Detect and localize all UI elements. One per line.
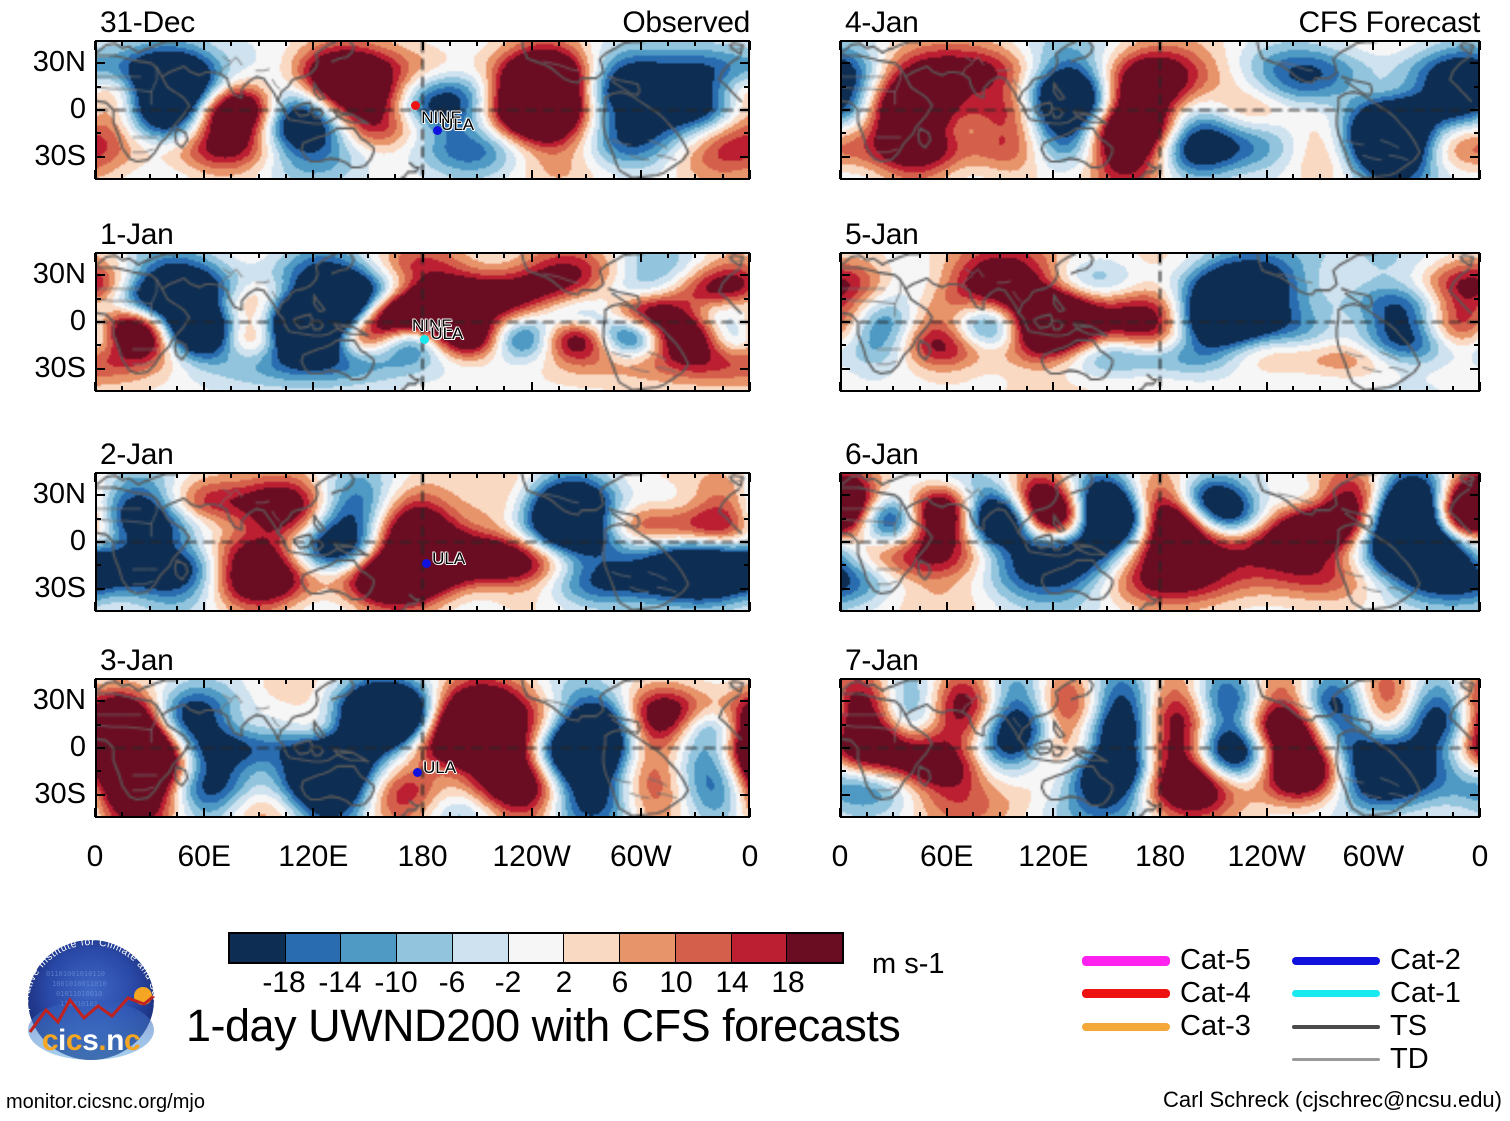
axis-tick <box>1319 174 1321 179</box>
axis-tick <box>1212 679 1214 684</box>
axis-tick <box>449 473 451 478</box>
axis-tick <box>613 386 615 391</box>
axis-tick <box>476 679 478 684</box>
axis-tick <box>176 606 178 611</box>
axis-tick <box>94 602 96 611</box>
x-axis-label-right-2: 120E <box>1018 842 1088 872</box>
axis-tick <box>1052 170 1054 179</box>
axis-tick <box>740 541 749 543</box>
axis-tick <box>394 174 396 179</box>
axis-tick <box>1372 170 1374 179</box>
y-axis-label-30s-row2: 30S <box>0 574 86 603</box>
axis-tick <box>367 606 369 611</box>
storm-label-ula-obs-2-jan: ULA <box>432 550 465 567</box>
axis-tick <box>1159 253 1161 262</box>
legend-row-cat-3: Cat-3 <box>1082 1010 1251 1043</box>
axis-tick <box>1346 253 1348 258</box>
axis-tick <box>258 174 260 179</box>
axis-tick <box>96 132 101 134</box>
axis-tick <box>640 382 642 391</box>
axis-tick <box>1106 679 1108 684</box>
colorbar-swatch-0 <box>230 934 286 962</box>
axis-tick <box>919 41 921 46</box>
axis-tick <box>640 808 642 817</box>
axis-tick <box>149 679 151 684</box>
axis-tick <box>1186 174 1188 179</box>
legend-line-cat-4 <box>1082 989 1170 998</box>
y-axis-label-30n-row2: 30N <box>0 480 86 509</box>
axis-tick <box>1426 174 1428 179</box>
axis-tick <box>740 494 749 496</box>
legend-label-cat-2: Cat-2 <box>1390 946 1461 975</box>
axis-tick <box>176 174 178 179</box>
axis-tick <box>531 602 533 611</box>
axis-tick <box>1106 386 1108 391</box>
axis-tick <box>1479 170 1481 179</box>
axis-tick <box>96 518 101 520</box>
panel-title-obs-2-jan: 2-Jan <box>100 440 174 470</box>
axis-tick <box>839 808 841 817</box>
y-axis-label-0-row0: 0 <box>0 95 86 124</box>
y-axis-label-30s-row3: 30S <box>0 780 86 809</box>
axis-tick <box>558 812 560 817</box>
axis-tick <box>96 109 105 111</box>
storm-marker-ula-obs-1-jan <box>420 335 429 344</box>
axis-tick <box>285 679 287 684</box>
axis-tick <box>1159 602 1161 611</box>
axis-tick <box>613 606 615 611</box>
axis-tick <box>1239 812 1241 817</box>
axis-tick <box>640 679 642 688</box>
axis-tick <box>230 812 232 817</box>
axis-tick <box>340 253 342 258</box>
axis-tick <box>96 700 105 702</box>
axis-tick <box>1479 473 1481 482</box>
axis-tick <box>1346 679 1348 684</box>
axis-tick <box>1079 386 1081 391</box>
axis-tick <box>1106 253 1108 258</box>
axis-tick <box>740 588 749 590</box>
axis-tick <box>1479 679 1481 688</box>
axis-tick <box>312 808 314 817</box>
colorbar-tick-18: 18 <box>771 966 804 1000</box>
axis-tick <box>866 812 868 817</box>
axis-tick <box>1186 606 1188 611</box>
axis-tick <box>749 41 751 50</box>
axis-tick <box>1079 679 1081 684</box>
x-axis-label-right-6: 0 <box>1472 842 1489 872</box>
axis-tick <box>531 170 533 179</box>
axis-tick <box>1292 679 1294 684</box>
axis-tick <box>1239 386 1241 391</box>
axis-tick <box>1239 473 1241 478</box>
axis-tick <box>96 321 105 323</box>
axis-tick <box>585 606 587 611</box>
axis-tick <box>1470 321 1479 323</box>
colorbar-units-label: m s-1 <box>872 950 945 979</box>
axis-tick <box>96 564 101 566</box>
axis-tick <box>722 41 724 46</box>
legend-line-cat-1 <box>1292 990 1380 997</box>
axis-tick <box>972 812 974 817</box>
map-field-obs-3-jan <box>97 680 748 816</box>
x-axis-label-right-3: 180 <box>1135 842 1185 872</box>
axis-tick <box>1319 473 1321 478</box>
axis-tick <box>1346 386 1348 391</box>
axis-tick <box>585 253 587 258</box>
axis-tick <box>841 109 850 111</box>
axis-tick <box>667 41 669 46</box>
axis-tick <box>667 606 669 611</box>
axis-tick <box>1132 473 1134 478</box>
axis-tick <box>892 386 894 391</box>
map-panel-obs-2-jan <box>95 472 750 612</box>
axis-tick <box>972 174 974 179</box>
column-header-observed: Observed <box>95 8 750 38</box>
legend-line-cat-2 <box>1292 957 1380 965</box>
axis-tick <box>999 174 1001 179</box>
axis-tick <box>866 606 868 611</box>
legend-row-cat-1: Cat-1 <box>1292 977 1461 1010</box>
axis-tick <box>694 253 696 258</box>
axis-tick <box>722 812 724 817</box>
colorbar-swatch-5 <box>509 934 565 962</box>
axis-tick <box>449 253 451 258</box>
map-field-cfs-5-jan <box>842 254 1478 390</box>
colorbar-tick-6: 6 <box>612 966 629 1000</box>
colorbar-swatch-10 <box>787 934 842 962</box>
map-panel-cfs-7-jan <box>840 678 1480 818</box>
axis-tick <box>694 812 696 817</box>
map-field-cfs-7-jan <box>842 680 1478 816</box>
axis-tick <box>866 386 868 391</box>
axis-tick <box>1452 812 1454 817</box>
axis-tick <box>694 606 696 611</box>
axis-tick <box>1266 808 1268 817</box>
axis-tick <box>744 518 749 520</box>
map-field-cfs-4-jan <box>842 42 1478 178</box>
axis-tick <box>1266 41 1268 50</box>
axis-tick <box>96 494 105 496</box>
axis-tick <box>740 794 749 796</box>
axis-tick <box>94 253 96 262</box>
axis-tick <box>1239 174 1241 179</box>
axis-tick <box>176 679 178 684</box>
colorbar-swatch-6 <box>564 934 620 962</box>
axis-tick <box>1186 386 1188 391</box>
axis-tick <box>340 386 342 391</box>
axis-tick <box>1399 386 1401 391</box>
legend-line-cat-5 <box>1082 956 1170 966</box>
x-axis-label-left-2: 120E <box>278 842 348 872</box>
axis-tick <box>96 724 101 726</box>
axis-tick <box>841 156 850 158</box>
axis-tick <box>367 174 369 179</box>
axis-tick <box>312 602 314 611</box>
axis-tick <box>585 812 587 817</box>
panel-title-obs-3-jan: 3-Jan <box>100 646 174 676</box>
axis-tick <box>203 679 205 688</box>
axis-tick <box>841 564 846 566</box>
axis-tick <box>1159 382 1161 391</box>
axis-tick <box>149 253 151 258</box>
axis-tick <box>1239 41 1241 46</box>
colorbar-tick-2: 2 <box>556 966 573 1000</box>
axis-tick <box>722 473 724 478</box>
axis-tick <box>694 386 696 391</box>
axis-tick <box>258 812 260 817</box>
axis-tick <box>96 86 101 88</box>
axis-tick <box>1372 473 1374 482</box>
legend-line-ts <box>1292 1025 1380 1029</box>
axis-tick <box>740 368 749 370</box>
axis-tick <box>285 174 287 179</box>
axis-tick <box>1159 41 1161 50</box>
axis-tick <box>946 473 948 482</box>
axis-tick <box>866 41 868 46</box>
axis-tick <box>230 41 232 46</box>
axis-tick <box>94 679 96 688</box>
axis-tick <box>1266 253 1268 262</box>
axis-tick <box>841 62 850 64</box>
axis-tick <box>230 386 232 391</box>
axis-tick <box>121 473 123 478</box>
axis-tick <box>230 174 232 179</box>
axis-tick <box>740 747 749 749</box>
axis-tick <box>312 382 314 391</box>
axis-tick <box>749 602 751 611</box>
axis-tick <box>476 386 478 391</box>
axis-tick <box>694 679 696 684</box>
axis-tick <box>121 174 123 179</box>
panel-title-cfs-7-jan: 7-Jan <box>845 646 919 676</box>
axis-tick <box>258 253 260 258</box>
axis-tick <box>999 473 1001 478</box>
axis-tick <box>367 41 369 46</box>
panel-title-cfs-6-jan: 6-Jan <box>845 440 919 470</box>
axis-tick <box>839 473 841 482</box>
axis-tick <box>1052 253 1054 262</box>
axis-tick <box>96 588 105 590</box>
axis-tick <box>841 274 850 276</box>
axis-tick <box>613 679 615 684</box>
x-axis-label-right-4: 120W <box>1227 842 1305 872</box>
axis-tick <box>613 253 615 258</box>
axis-tick <box>1052 473 1054 482</box>
axis-tick <box>1426 253 1428 258</box>
axis-tick <box>340 174 342 179</box>
axis-tick <box>394 253 396 258</box>
axis-tick <box>841 344 846 346</box>
axis-tick <box>667 812 669 817</box>
axis-tick <box>149 174 151 179</box>
x-axis-labels-right: 060E120E180120W60W0 <box>840 842 1480 882</box>
axis-tick <box>749 808 751 817</box>
axis-tick <box>422 808 424 817</box>
axis-tick <box>558 679 560 684</box>
axis-tick <box>1026 253 1028 258</box>
axis-tick <box>1372 808 1374 817</box>
axis-tick <box>613 812 615 817</box>
storm-label-ula-obs-31-dec: ULA <box>441 116 474 133</box>
axis-tick <box>613 41 615 46</box>
axis-tick <box>558 174 560 179</box>
axis-tick <box>1106 174 1108 179</box>
axis-tick <box>121 679 123 684</box>
axis-tick <box>1266 679 1268 688</box>
axis-tick <box>1292 606 1294 611</box>
axis-tick <box>422 602 424 611</box>
axis-tick <box>422 253 424 262</box>
axis-tick <box>841 724 846 726</box>
axis-tick <box>367 812 369 817</box>
axis-tick <box>1212 386 1214 391</box>
y-axis-label-30s-row0: 30S <box>0 142 86 171</box>
colorbar-tick-14: 14 <box>715 966 748 1000</box>
axis-tick <box>176 812 178 817</box>
axis-tick <box>1079 253 1081 258</box>
axis-tick <box>1132 41 1134 46</box>
axis-tick <box>1292 812 1294 817</box>
axis-tick <box>1186 41 1188 46</box>
axis-tick <box>585 473 587 478</box>
axis-tick <box>1474 298 1479 300</box>
axis-tick <box>367 473 369 478</box>
axis-tick <box>1474 132 1479 134</box>
axis-tick <box>203 473 205 482</box>
colorbar-swatches <box>228 932 844 964</box>
axis-tick <box>1346 473 1348 478</box>
axis-tick <box>503 253 505 258</box>
axis-tick <box>422 473 424 482</box>
axis-tick <box>1470 62 1479 64</box>
axis-tick <box>1212 253 1214 258</box>
axis-tick <box>667 473 669 478</box>
axis-tick <box>340 606 342 611</box>
axis-tick <box>740 321 749 323</box>
axis-tick <box>1052 382 1054 391</box>
y-axis-label-30n-row3: 30N <box>0 686 86 715</box>
axis-tick <box>1079 812 1081 817</box>
axis-tick <box>1292 41 1294 46</box>
axis-tick <box>1186 812 1188 817</box>
axis-tick <box>740 62 749 64</box>
axis-tick <box>946 382 948 391</box>
axis-tick <box>1399 679 1401 684</box>
axis-tick <box>285 386 287 391</box>
axis-tick <box>449 679 451 684</box>
axis-tick <box>640 170 642 179</box>
axis-tick <box>839 602 841 611</box>
axis-tick <box>749 473 751 482</box>
legend-row-td: TD <box>1292 1043 1461 1076</box>
axis-tick <box>722 606 724 611</box>
axis-tick <box>1052 679 1054 688</box>
panel-title-obs-1-jan: 1-Jan <box>100 220 174 250</box>
axis-tick <box>1426 679 1428 684</box>
map-panel-cfs-6-jan <box>840 472 1480 612</box>
legend-label-ts: TS <box>1390 1012 1427 1041</box>
axis-tick <box>476 41 478 46</box>
axis-tick <box>1132 606 1134 611</box>
legend-row-cat-4: Cat-4 <box>1082 977 1251 1010</box>
axis-tick <box>749 382 751 391</box>
y-axis-label-0-row3: 0 <box>0 733 86 762</box>
axis-tick <box>866 174 868 179</box>
axis-tick <box>394 473 396 478</box>
axis-tick <box>1319 386 1321 391</box>
axis-tick <box>1319 253 1321 258</box>
axis-tick <box>1026 473 1028 478</box>
legend-label-cat-1: Cat-1 <box>1390 979 1461 1008</box>
axis-tick <box>1026 812 1028 817</box>
axis-tick <box>1372 679 1374 688</box>
axis-tick <box>1426 386 1428 391</box>
x-axis-label-left-3: 180 <box>397 842 447 872</box>
axis-tick <box>149 606 151 611</box>
axis-tick <box>1346 606 1348 611</box>
axis-tick <box>1132 386 1134 391</box>
axis-tick <box>285 253 287 258</box>
axis-tick <box>919 812 921 817</box>
column-header-cfs-forecast: CFS Forecast <box>840 8 1480 38</box>
axis-tick <box>312 253 314 262</box>
axis-tick <box>1159 808 1161 817</box>
axis-tick <box>121 253 123 258</box>
axis-tick <box>946 808 948 817</box>
axis-tick <box>558 473 560 478</box>
axis-tick <box>1266 170 1268 179</box>
legend-label-cat-5: Cat-5 <box>1180 946 1251 975</box>
axis-tick <box>667 253 669 258</box>
axis-tick <box>94 473 96 482</box>
axis-tick <box>258 386 260 391</box>
axis-tick <box>866 473 868 478</box>
axis-tick <box>531 41 533 50</box>
axis-tick <box>449 41 451 46</box>
axis-tick <box>946 41 948 50</box>
map-field-obs-2-jan <box>97 474 748 610</box>
axis-tick <box>919 606 921 611</box>
axis-tick <box>340 812 342 817</box>
axis-tick <box>1292 386 1294 391</box>
axis-tick <box>999 812 1001 817</box>
axis-tick <box>531 253 533 262</box>
axis-tick <box>203 382 205 391</box>
map-field-cfs-6-jan <box>842 474 1478 610</box>
axis-tick <box>1159 679 1161 688</box>
axis-tick <box>1266 473 1268 482</box>
axis-tick <box>1132 812 1134 817</box>
axis-tick <box>694 174 696 179</box>
legend-line-cat-3 <box>1082 1023 1170 1031</box>
axis-tick <box>422 41 424 50</box>
axis-tick <box>312 170 314 179</box>
legend-label-cat-3: Cat-3 <box>1180 1012 1251 1041</box>
axis-tick <box>1372 382 1374 391</box>
axis-tick <box>841 770 846 772</box>
axis-tick <box>1399 812 1401 817</box>
axis-tick <box>972 253 974 258</box>
axis-tick <box>841 321 850 323</box>
axis-tick <box>149 41 151 46</box>
axis-tick <box>340 473 342 478</box>
axis-tick <box>892 812 894 817</box>
axis-tick <box>1452 386 1454 391</box>
axis-tick <box>96 541 105 543</box>
axis-tick <box>367 386 369 391</box>
axis-tick <box>919 386 921 391</box>
